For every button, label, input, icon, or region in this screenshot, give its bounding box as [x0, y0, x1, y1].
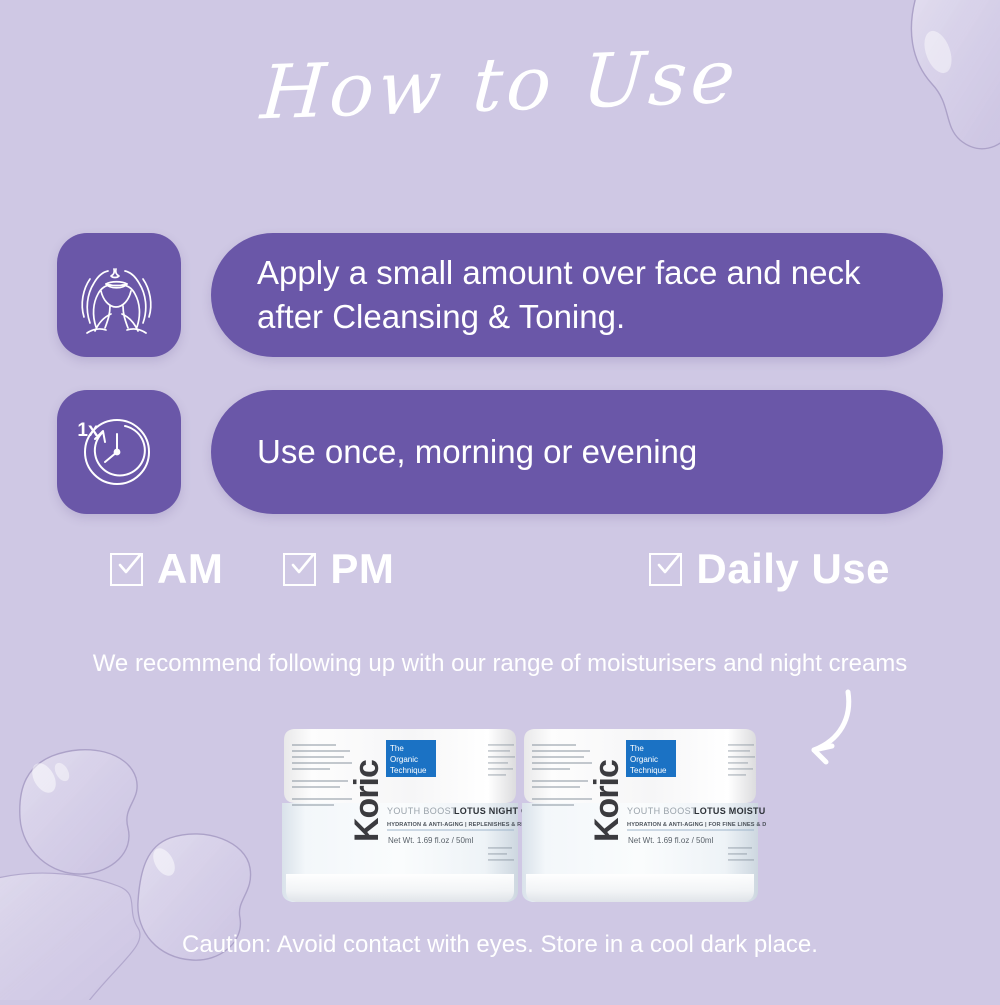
caution-text: Caution: Avoid contact with eyes. Store …	[0, 931, 1000, 959]
usage-check-am[interactable]: AM	[110, 548, 223, 590]
usage-check-pm[interactable]: PM	[283, 548, 394, 590]
curved-arrow-down-left-icon	[752, 688, 862, 773]
instruction-step: 1x Use once, morning or evening	[57, 390, 943, 514]
checkbox-checked-icon[interactable]	[283, 553, 316, 586]
svg-text:Organic: Organic	[390, 755, 418, 764]
svg-text:Technique: Technique	[630, 766, 667, 775]
product-net-weight: Net Wt. 1.69 fl.oz / 50ml	[388, 836, 474, 845]
svg-text:The: The	[630, 744, 644, 753]
product-brand: Koric	[348, 760, 386, 842]
svg-text:Organic: Organic	[630, 755, 658, 764]
step-icon-tile	[57, 233, 181, 357]
instruction-step: Apply a small amount over face and neck …	[57, 233, 943, 357]
usage-check-label: PM	[330, 548, 394, 590]
page-title: How to Use	[259, 40, 742, 131]
step-icon-tile: 1x	[57, 390, 181, 514]
product-jars: Koric The Organic Technique YOUTH BOOST …	[276, 722, 766, 927]
usage-check-label: AM	[157, 548, 223, 590]
checkbox-checked-icon[interactable]	[110, 553, 143, 586]
product-jar: Koric The Organic Technique YOUTH BOOST …	[522, 729, 766, 902]
step-text: Use once, morning or evening	[257, 430, 697, 474]
usage-check-label: Daily Use	[696, 548, 890, 590]
recommendation-text: We recommend following up with our range…	[0, 650, 1000, 678]
product-name: LOTUS MOISTURISER	[694, 806, 766, 816]
gel-blob-left-upper	[20, 750, 137, 874]
svg-text:The: The	[390, 744, 404, 753]
usage-check-row: AM PM Daily Use	[110, 548, 890, 590]
face-neck-application-icon	[73, 247, 165, 344]
product-line-prefix: YOUTH BOOST	[387, 806, 457, 816]
clock-frequency-label: 1x	[77, 420, 98, 442]
instruction-steps: Apply a small amount over face and neck …	[57, 233, 943, 547]
product-net-weight: Net Wt. 1.69 fl.oz / 50ml	[628, 836, 714, 845]
step-text-bar: Use once, morning or evening	[211, 390, 943, 514]
checkbox-checked-icon[interactable]	[649, 553, 682, 586]
step-text: Apply a small amount over face and neck …	[257, 251, 897, 338]
product-brand: Koric	[588, 760, 626, 842]
step-text-bar: Apply a small amount over face and neck …	[211, 233, 943, 357]
product-subtitle: HYDRATION & ANTI-AGING | FOR FINE LINES …	[627, 822, 766, 828]
page-title-wrap: How to Use	[0, 48, 1000, 122]
usage-check-daily-use[interactable]: Daily Use	[649, 548, 890, 590]
product-line-prefix: YOUTH BOOST	[627, 806, 697, 816]
svg-text:Technique: Technique	[390, 766, 427, 775]
clock-once-daily-icon	[71, 404, 167, 501]
